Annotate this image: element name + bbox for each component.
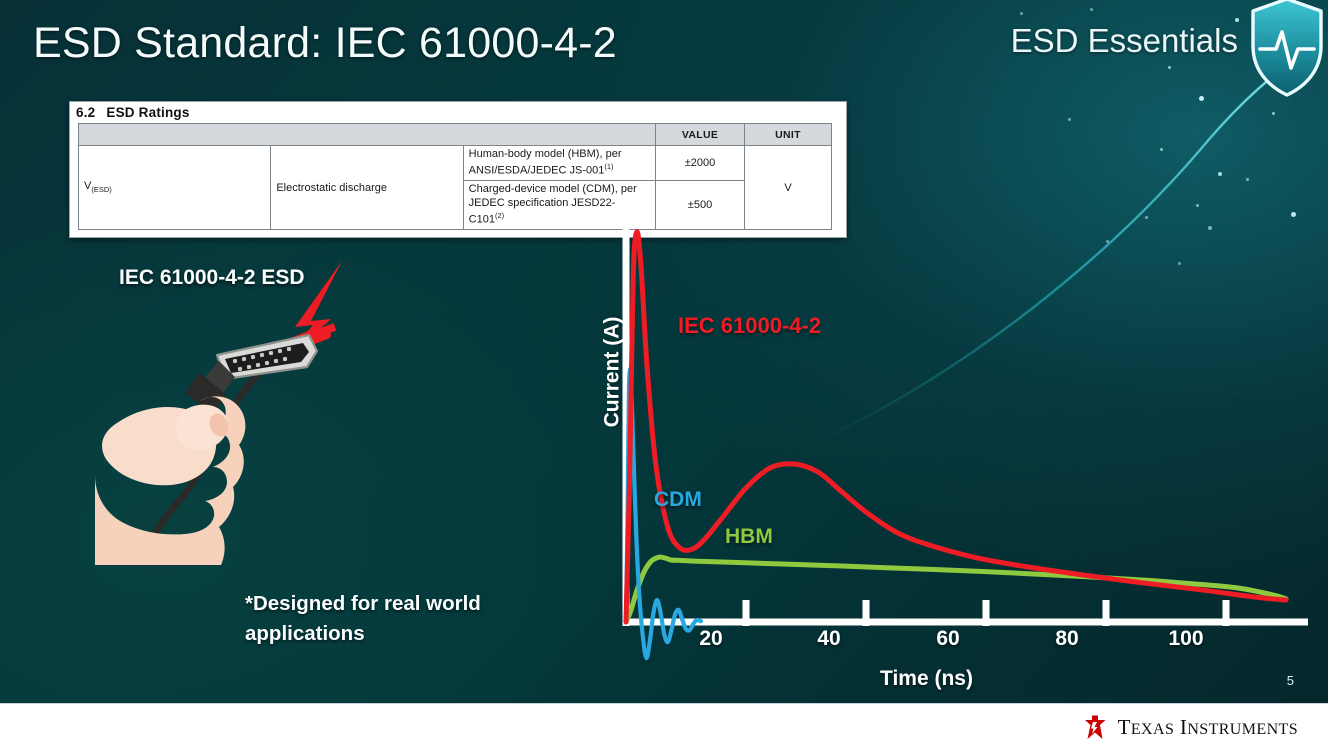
column-header-unit: UNIT xyxy=(745,124,832,146)
hand-holding-hdmi-connector-icon xyxy=(95,255,425,565)
shield-heartbeat-icon xyxy=(1248,0,1326,100)
sparkle-dot xyxy=(1199,96,1204,101)
description-cell: Human-body model (HBM), per ANSI/ESDA/JE… xyxy=(463,146,655,181)
series-label-iec: IEC 61000-4-2 xyxy=(678,313,821,339)
footer-bar: TEXAS INSTRUMENTS xyxy=(0,703,1328,746)
symbol-cell: V(ESD) xyxy=(79,146,271,230)
sparkle-dot xyxy=(1246,178,1249,181)
chart-plot-svg xyxy=(570,185,1310,695)
value-cell: ±2000 xyxy=(656,146,745,181)
texas-instruments-logo-icon: TEXAS INSTRUMENTS xyxy=(1081,713,1298,741)
footnote-marker: (2) xyxy=(495,211,504,220)
hdmi-connector-icon xyxy=(185,335,317,415)
ti-word-second-rest: NSTRUMENTS xyxy=(1187,721,1298,738)
section-number: 6.2 xyxy=(76,105,95,120)
page-number: 5 xyxy=(1287,673,1294,688)
ti-word-first-rest: EXAS xyxy=(1131,721,1174,738)
sparkle-dot xyxy=(1160,148,1163,151)
ti-word-first-cap: T xyxy=(1118,715,1131,739)
sparkle-dot xyxy=(1068,118,1071,121)
real-world-note: *Designed for real world applications xyxy=(245,589,555,648)
sparkle-dot xyxy=(1218,172,1222,176)
parameter-cell: Electrostatic discharge xyxy=(271,146,463,230)
esd-waveform-chart: Current (A) Time (ns) IEC 61000-4-2 CDM … xyxy=(570,185,1310,695)
slide-canvas: ESD Standard: IEC 61000-4-2 ESD Essentia… xyxy=(0,0,1328,746)
spacer-cell xyxy=(79,124,656,146)
sparkle-dot xyxy=(1090,8,1093,11)
section-title: ESD Ratings xyxy=(106,105,189,120)
hand-icon xyxy=(95,396,245,565)
x-tick-label: 80 xyxy=(1037,627,1097,651)
x-tick-label: 60 xyxy=(918,627,978,651)
x-tick-label: 100 xyxy=(1156,627,1216,651)
footnote-marker: (1) xyxy=(604,162,613,171)
brand-label: ESD Essentials xyxy=(1011,22,1238,60)
x-tick-label: 20 xyxy=(681,627,741,651)
page-title: ESD Standard: IEC 61000-4-2 xyxy=(33,19,617,68)
description-text: Human-body model (HBM), per ANSI/ESDA/JE… xyxy=(469,148,622,176)
sparkle-dot xyxy=(1020,12,1023,15)
column-header-value: VALUE xyxy=(656,124,745,146)
ti-wordmark: TEXAS INSTRUMENTS xyxy=(1118,715,1298,740)
ti-texas-mark-icon xyxy=(1081,713,1109,741)
sparkle-dot xyxy=(1272,112,1275,115)
sparkle-dot xyxy=(1168,66,1171,69)
illustration-label: IEC 61000-4-2 ESD xyxy=(119,266,305,290)
table-row: V(ESD) Electrostatic discharge Human-bod… xyxy=(79,146,832,181)
esd-table-heading: 6.2ESD Ratings xyxy=(70,102,846,123)
symbol-subscript: (ESD) xyxy=(91,186,111,195)
series-label-hbm: HBM xyxy=(725,525,773,549)
table-spacer-row: VALUE UNIT xyxy=(79,124,832,146)
series-label-cdm: CDM xyxy=(654,488,702,512)
x-tick-label: 40 xyxy=(799,627,859,651)
